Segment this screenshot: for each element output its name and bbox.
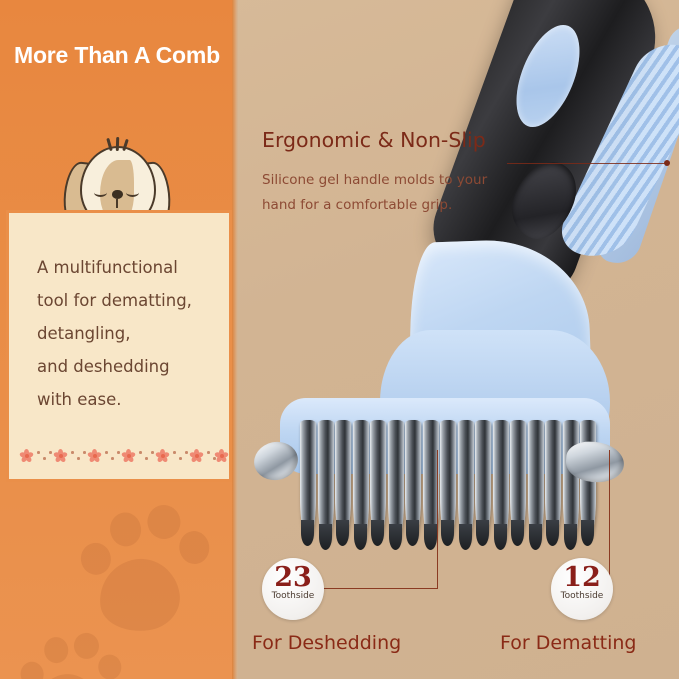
floral-dot	[83, 451, 86, 454]
comb-tooth	[475, 420, 491, 540]
panel-divider	[232, 0, 238, 679]
callout-body-line-1: Silicone gel handle molds to your	[262, 168, 522, 193]
flower-center	[59, 454, 63, 458]
flower-icon	[214, 449, 229, 464]
badge-sublabel: Toothside	[262, 591, 324, 602]
comb-tooth	[528, 420, 544, 544]
left-panel: More Than A Comb A multifunctional tool …	[0, 0, 232, 679]
paw-toe	[73, 632, 101, 660]
floral-dot	[151, 451, 154, 454]
paw-toe	[43, 636, 70, 664]
flower-center	[93, 454, 97, 458]
comb-tooth	[318, 420, 334, 544]
floral-dot	[117, 451, 120, 454]
paw-toe	[177, 529, 211, 566]
comb-tooth	[335, 420, 351, 540]
badge-deshedding: 23 Toothside	[262, 558, 324, 620]
paw-toe	[19, 661, 44, 679]
description-text: A multifunctional tool for dematting, de…	[37, 251, 213, 416]
infographic-canvas: Ergonomic & Non-Slip Silicone gel handle…	[0, 0, 679, 679]
description-line-5: with ease.	[37, 383, 213, 416]
comb-tooth	[370, 420, 386, 540]
bracket-elbow-left	[437, 567, 438, 589]
paw-toe	[79, 541, 113, 577]
floral-dot	[207, 451, 210, 454]
comb-tooth	[458, 420, 474, 544]
floral-dot	[77, 457, 80, 460]
flower-center	[161, 454, 165, 458]
callout-heading: Ergonomic & Non-Slip	[262, 128, 486, 152]
badge-dematting: 12 Toothside	[551, 558, 613, 620]
flower-icon	[155, 449, 170, 464]
dog-hair-tuft	[116, 137, 119, 151]
comb-tooth	[510, 420, 526, 540]
floral-dot	[43, 457, 46, 460]
flower-icon	[189, 449, 204, 464]
comb-tooth	[493, 420, 509, 544]
floral-dot	[71, 451, 74, 454]
floral-dot	[37, 451, 40, 454]
caption-deshedding: For Deshedding	[252, 632, 401, 654]
flower-icon	[53, 449, 68, 464]
flower-icon	[121, 449, 136, 464]
bracket-line-left	[323, 588, 438, 589]
comb-tooth	[545, 420, 561, 540]
flower-center	[25, 454, 29, 458]
comb-tooth	[300, 420, 316, 540]
floral-dot	[111, 457, 114, 460]
floral-border	[9, 441, 229, 475]
floral-dot	[173, 451, 176, 454]
paw-toe	[97, 653, 122, 679]
description-card: A multifunctional tool for dematting, de…	[6, 210, 232, 482]
badge-number: 12	[551, 564, 613, 591]
paw-toe	[145, 503, 182, 541]
floral-dot	[185, 451, 188, 454]
comb-tooth	[563, 420, 579, 544]
bracket-line-center-left	[437, 450, 438, 568]
dog-nose	[112, 190, 123, 199]
flower-center	[220, 454, 224, 458]
badge-sublabel: Toothside	[551, 591, 613, 602]
callout-body-line-2: hand for a comfortable grip.	[262, 193, 522, 218]
comb-teeth-group	[300, 420, 600, 560]
dog-mouth	[116, 199, 118, 208]
comb-tooth	[440, 420, 456, 540]
paw-print-icon	[12, 619, 144, 679]
description-line-4: and deshedding	[37, 350, 213, 383]
page-title: More Than A Comb	[14, 42, 224, 69]
bracket-line-center-right	[609, 450, 610, 568]
floral-dot	[105, 451, 108, 454]
paw-toe	[108, 510, 143, 548]
flower-center	[127, 454, 131, 458]
description-line-1: A multifunctional	[37, 251, 213, 284]
comb-tooth	[405, 420, 421, 540]
description-line-2: tool for dematting,	[37, 284, 213, 317]
callout-pointer-dot	[664, 160, 670, 166]
comb-tooth	[388, 420, 404, 544]
flower-icon	[19, 449, 34, 464]
dog-eye-left	[94, 188, 107, 197]
floral-dot	[145, 457, 148, 460]
callout-body: Silicone gel handle molds to your hand f…	[262, 168, 522, 218]
caption-dematting: For Dematting	[500, 632, 636, 654]
description-line-3: detangling,	[37, 317, 213, 350]
flower-center	[195, 454, 199, 458]
callout-pointer-line	[507, 163, 667, 164]
dog-eye-right	[126, 188, 139, 197]
flower-icon	[87, 449, 102, 464]
floral-dot	[49, 451, 52, 454]
badge-number: 23	[262, 564, 324, 591]
comb-tooth	[353, 420, 369, 544]
floral-dot	[139, 451, 142, 454]
floral-dot	[179, 457, 182, 460]
